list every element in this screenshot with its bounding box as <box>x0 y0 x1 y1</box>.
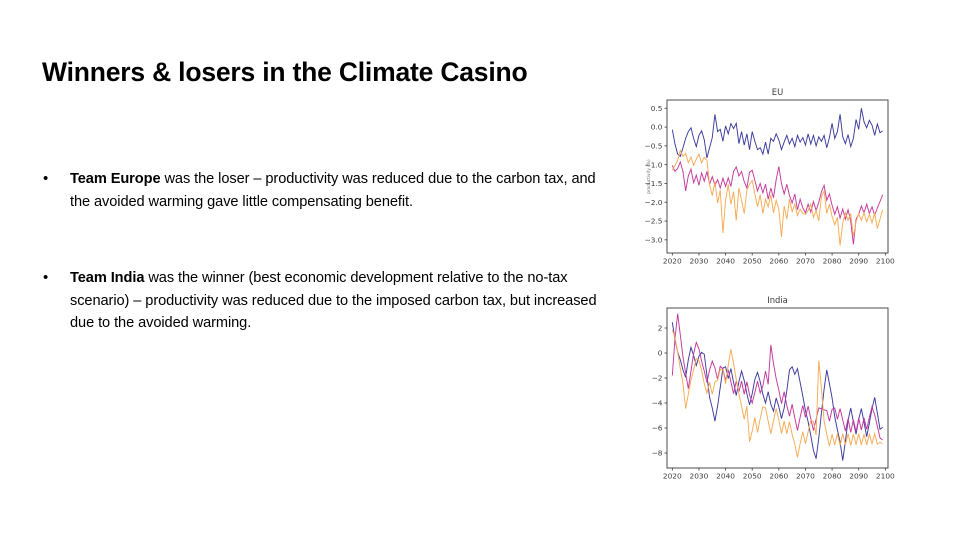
chart-eu: EU0.50.0−0.5−1.0−1.5−2.0−2.5−3.020202030… <box>630 78 902 278</box>
plot-frame <box>667 308 888 468</box>
chart-title: India <box>767 295 788 305</box>
series-line-scenario-navy <box>672 322 882 460</box>
series-line-scenario-orange <box>672 330 882 458</box>
y-tick-label: −2.5 <box>645 217 663 226</box>
x-tick-label: 2040 <box>716 472 735 481</box>
bullet-point-icon: • <box>38 168 70 191</box>
x-tick-label: 2070 <box>796 257 815 266</box>
y-axis-label: productivity (%) <box>646 159 652 194</box>
y-tick-label: −3.0 <box>645 235 663 244</box>
bullet-point-icon: • <box>38 267 70 290</box>
bullet-body-india: was the winner (best economic developmen… <box>70 270 597 331</box>
x-tick-label: 2080 <box>823 472 842 481</box>
x-tick-label: 2050 <box>743 257 762 266</box>
y-tick-label: −2 <box>652 374 663 383</box>
bullet-text-europe: Team Europe was the loser – productivity… <box>70 168 598 213</box>
x-tick-label: 2080 <box>823 257 842 266</box>
y-tick-label: 0.0 <box>651 123 663 132</box>
x-tick-label: 2030 <box>690 257 709 266</box>
x-tick-label: 2070 <box>796 472 815 481</box>
x-tick-label: 2100 <box>876 257 895 266</box>
slide-canvas: Winners & losers in the Climate Casino •… <box>0 0 960 540</box>
page-title: Winners & losers in the Climate Casino <box>42 57 642 87</box>
bullet-lead-india: Team India <box>70 270 144 286</box>
x-tick-label: 2050 <box>743 472 762 481</box>
x-tick-label: 2090 <box>849 257 868 266</box>
series-line-scenario-navy <box>672 108 882 158</box>
x-tick-label: 2060 <box>769 472 788 481</box>
bullet-list: • Team Europe was the loser – productivi… <box>38 168 598 389</box>
x-tick-label: 2060 <box>769 257 788 266</box>
x-tick-label: 2020 <box>663 472 682 481</box>
chart-title: EU <box>772 87 783 97</box>
y-tick-label: −6 <box>652 424 663 433</box>
series-line-scenario-magenta <box>672 314 882 440</box>
list-item: • Team Europe was the loser – productivi… <box>38 168 598 213</box>
y-tick-label: −8 <box>652 449 663 458</box>
x-tick-label: 2020 <box>663 257 682 266</box>
bullet-text-india: Team India was the winner (best economic… <box>70 267 598 335</box>
x-tick-label: 2090 <box>849 472 868 481</box>
y-tick-label: 2 <box>658 324 663 333</box>
bullet-lead-europe: Team Europe <box>70 171 161 187</box>
x-tick-label: 2100 <box>876 472 895 481</box>
x-tick-label: 2030 <box>690 472 709 481</box>
y-tick-label: 0.5 <box>651 104 663 113</box>
x-tick-label: 2040 <box>716 257 735 266</box>
y-tick-label: −0.5 <box>645 141 663 150</box>
series-line-scenario-orange <box>672 150 882 245</box>
chart-india: India20−2−4−6−82020203020402050206020702… <box>630 283 902 495</box>
y-tick-label: −4 <box>652 399 663 408</box>
y-tick-label: −2.0 <box>645 198 663 207</box>
list-item: • Team India was the winner (best econom… <box>38 267 598 335</box>
y-tick-label: 0 <box>658 349 663 358</box>
